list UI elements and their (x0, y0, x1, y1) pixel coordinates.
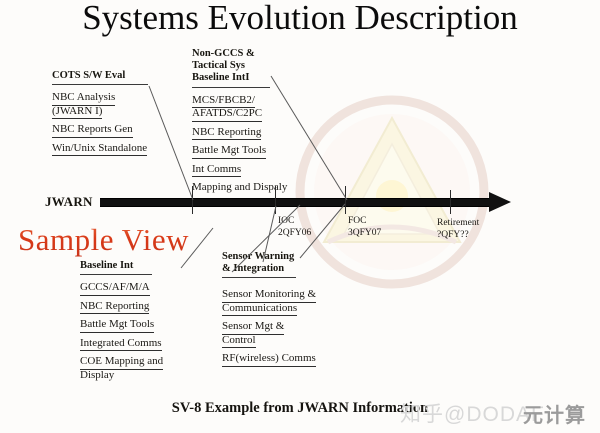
milestone-date: 2QFY06 (278, 228, 311, 240)
background-emblem-watermark (292, 92, 492, 292)
item-text: NBC Reports Gen (52, 123, 133, 138)
column-header-non-gccs-line-3: Baseline IntI (192, 72, 270, 87)
milestone-retirement: Retirement ?QFY?? (437, 218, 479, 241)
column-baseline-int: Baseline Int GCCS/AF/M/A NBC Reporting B… (80, 260, 163, 386)
column-header-non-gccs-line-1: Non-GCCS & (192, 48, 287, 60)
timeline-tick-retirement (450, 190, 451, 214)
list-item: Sensor Mgt & (222, 320, 316, 335)
item-text: COE Mapping and (80, 355, 163, 370)
timeline-axis (100, 198, 492, 207)
item-text: NBC Reporting (192, 126, 261, 141)
list-item: GCCS/AF/M/A (80, 281, 163, 296)
item-text: Battle Mgt Tools (80, 318, 154, 333)
timeline-arrowhead-icon (489, 192, 511, 212)
sample-view-watermark: Sample View (18, 222, 189, 258)
column-cots-sw-eval: COTS S/W Eval NBC Analysis (JWARN I) NBC… (52, 70, 148, 160)
list-item: NBC Reporting (80, 300, 163, 315)
list-item: Communications (222, 302, 316, 317)
timeline-tick-foc (345, 186, 346, 214)
list-item: Integrated Comms (80, 337, 163, 352)
timeline-tick-ioc (275, 186, 276, 214)
list-item: Battle Mgt Tools (192, 144, 287, 159)
milestone-name: FOC (348, 216, 381, 228)
milestone-ioc: IOC 2QFY06 (278, 216, 311, 239)
item-text: Battle Mgt Tools (192, 144, 266, 159)
column-header-non-gccs-line-2: Tactical Sys (192, 60, 287, 72)
item-text: Sensor Mgt & (222, 320, 284, 335)
item-text: Win/Unix Standalone (52, 142, 147, 157)
item-text: GCCS/AF/M/A (80, 281, 150, 296)
item-text: Communications (222, 302, 297, 317)
item-text: (JWARN I) (52, 105, 102, 120)
list-item: MCS/FBCB2/ (192, 94, 287, 109)
item-text: NBC Analysis (52, 91, 115, 106)
brand-watermark: 元计算 (523, 399, 586, 428)
column-header-cots: COTS S/W Eval (52, 70, 148, 85)
list-item: AFATDS/C2PC (192, 107, 287, 122)
list-item: Display (80, 369, 163, 383)
item-text: RF(wireless) Comms (222, 352, 316, 367)
page-title: Systems Evolution Description (0, 0, 600, 38)
column-non-gccs-tactical: Non-GCCS & Tactical Sys Baseline IntI MC… (192, 48, 287, 199)
column-header-sensor-line-2: & Integration (222, 263, 296, 278)
list-item: COE Mapping and (80, 355, 163, 370)
item-text: AFATDS/C2PC (192, 107, 262, 122)
list-item: (JWARN I) (52, 105, 148, 120)
milestone-name: Retirement (437, 218, 479, 230)
list-item: Control (222, 334, 316, 349)
milestone-name: IOC (278, 216, 311, 228)
list-item: NBC Analysis (52, 91, 148, 106)
list-item: Mapping and Dispaly (192, 181, 287, 195)
list-item: Sensor Monitoring & (222, 288, 316, 303)
list-item: Int Comms (192, 163, 287, 178)
milestone-date: ?QFY?? (437, 230, 479, 242)
item-text: Integrated Comms (80, 337, 162, 352)
column-sensor-warning: Sensor Warning & Integration Sensor Moni… (222, 251, 316, 371)
milestone-date: 3QFY07 (348, 228, 381, 240)
list-item: Win/Unix Standalone (52, 142, 148, 157)
item-text: Control (222, 334, 256, 349)
list-item: RF(wireless) Comms (222, 352, 316, 367)
column-header-baseline-int: Baseline Int (80, 260, 152, 275)
slide-canvas: Systems Evolution Description COTS S/W E… (0, 0, 600, 433)
list-item: NBC Reporting (192, 126, 287, 141)
column-header-sensor-line-1: Sensor Warning (222, 251, 316, 263)
item-text: Display (80, 369, 114, 383)
milestone-foc: FOC 3QFY07 (348, 216, 381, 239)
item-text: MCS/FBCB2/ (192, 94, 255, 109)
timeline-tick-cots (192, 186, 193, 214)
list-item: Battle Mgt Tools (80, 318, 163, 333)
item-text: Sensor Monitoring & (222, 288, 316, 303)
item-text: Mapping and Dispaly (192, 181, 287, 195)
list-item: NBC Reports Gen (52, 123, 148, 138)
timeline-label-jwarn: JWARN (45, 194, 93, 210)
item-text: Int Comms (192, 163, 241, 178)
item-text: NBC Reporting (80, 300, 149, 315)
